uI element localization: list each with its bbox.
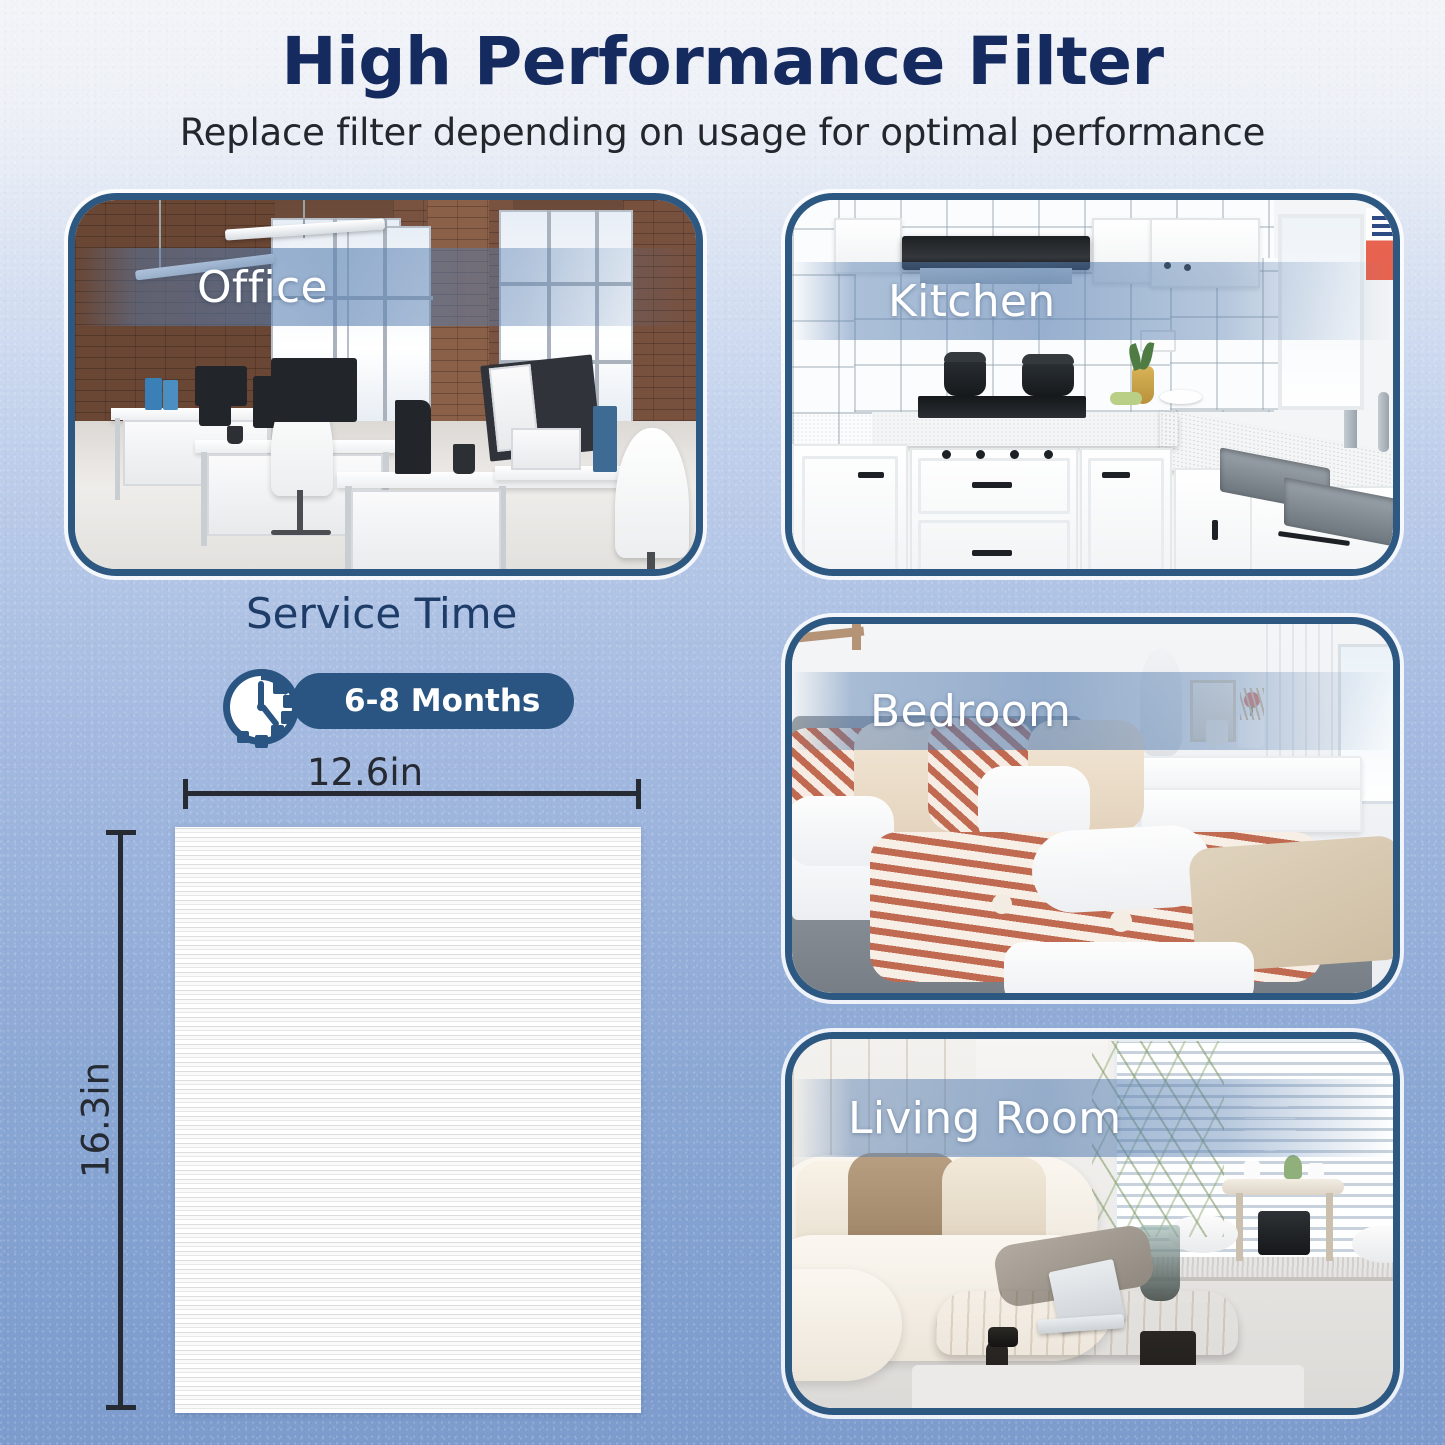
scene-label-living-room: Living Room [848,1093,1121,1144]
pot-lid-right [1022,354,1074,364]
service-time-heading: Service Time [246,589,517,638]
monitor-mid [199,368,231,426]
scene-card-office[interactable]: Office [68,193,703,576]
chair-stem-mid [297,490,303,534]
page-subtitle: Replace filter depending on usage for op… [0,111,1445,154]
bedroom-console-desk [1122,756,1362,792]
header: High Performance Filter Replace filter d… [0,26,1445,154]
cooktop-knob-1 [942,450,951,459]
dining-plant [1284,1155,1302,1179]
binder-navy [593,406,617,472]
robot-vacuum [1258,1211,1310,1255]
monitor-center-large [271,358,357,422]
service-duration-text: 6-8 Months [344,683,540,719]
faucet-secondary [1378,392,1389,452]
chair-stem-front [647,552,655,569]
fruit-plate [1160,390,1202,404]
binder-blue-2 [163,380,178,410]
scene-label-band-office: Office [75,248,696,326]
pompom-2 [1110,910,1132,932]
handle-corner-2 [1212,520,1218,540]
infographic-canvas: High Performance Filter Replace filter d… [0,0,1445,1445]
handle-drawer-1 [972,482,1012,488]
page-title: High Performance Filter [0,26,1445,97]
scene-label-office: Office [197,262,328,313]
cooking-pot-left [944,358,986,396]
cooktop-knob-2 [976,450,985,459]
height-dimension-line [118,830,123,1410]
handle-right [1102,472,1130,478]
desk-leg-back-1 [115,418,120,500]
poster-text-mark [1372,216,1393,236]
scene-label-kitchen: Kitchen [888,276,1055,327]
body-pillow-cream [1030,823,1214,914]
dining-cup-1 [1244,1161,1260,1179]
width-dimension-cap-left [183,779,188,809]
chair-base-mid [271,530,331,535]
dining-cup-2 [1308,1163,1324,1179]
width-dimension-cap-right [636,779,641,809]
pompom-1 [992,894,1012,914]
grapes [1110,392,1142,405]
handle-drawer-2 [972,550,1012,556]
height-dimension-label: 16.3in [75,1062,118,1178]
service-duration-badge: 6-8 Months [292,673,574,729]
wall-frame-corner-2 [852,624,861,650]
dining-table-leg-1 [1236,1193,1243,1261]
shag-rug [912,1365,1304,1408]
pot-lid-left [944,352,986,362]
height-dimension-cap-top [106,830,136,835]
pen-cup-front [453,444,475,474]
bed-sheet-front [1004,942,1254,993]
kitchen-scene-illustration [792,200,1393,569]
cooktop-knob-3 [1010,450,1019,459]
countertop-back [792,414,1178,446]
scene-label-band-kitchen: Kitchen [792,262,1393,340]
gas-cooktop [918,396,1086,418]
cooking-pot-right [1022,362,1074,396]
clock-gear-icon [215,659,311,755]
scene-label-band-living-room: Living Room [792,1079,1393,1157]
filter-product-image [175,827,641,1413]
pen-cup-mid [227,426,243,444]
filter-pleat-pattern [175,827,641,1413]
width-dimension-label: 12.6in [307,751,423,794]
desk-panel-front [351,490,501,569]
scene-card-kitchen[interactable]: Kitchen [785,193,1400,576]
dining-table-leg-2 [1326,1193,1333,1261]
scene-label-bedroom: Bedroom [870,686,1071,737]
handle-left [858,472,884,478]
drawer-2 [918,520,1070,569]
speaker-puck [988,1327,1018,1347]
binder-blue-1 [145,378,162,410]
monitor-screen-right [511,428,581,470]
scene-label-band-bedroom: Bedroom [792,672,1393,750]
cooktop-knob-4 [1044,450,1053,459]
file-holder-black [395,400,431,474]
scene-card-living-room[interactable]: Living Room [785,1032,1400,1415]
sofa-arm [792,1269,902,1381]
scene-card-bedroom[interactable]: Bedroom [785,617,1400,1000]
height-dimension-cap-bottom [106,1405,136,1410]
